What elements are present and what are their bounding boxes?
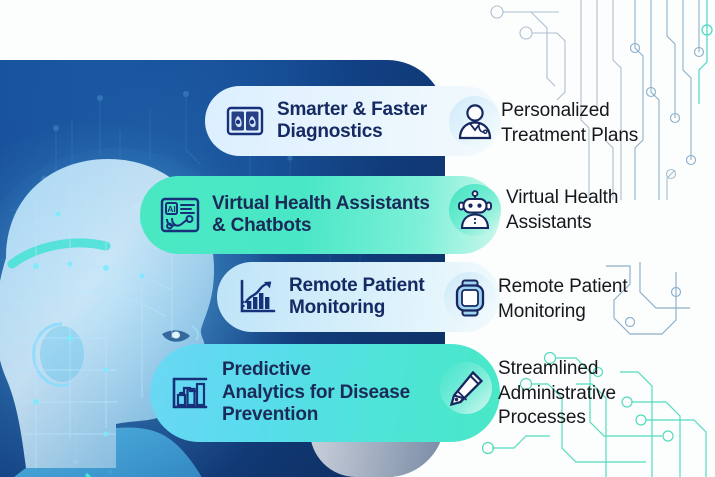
ai-document-stethoscope-icon: AI bbox=[158, 193, 202, 237]
pill-label: Predictive Analytics for Disease Prevent… bbox=[222, 359, 410, 426]
caption-remote-patient-monitoring: Remote Patient Monitoring bbox=[498, 275, 628, 324]
bar-chart-icon bbox=[168, 371, 212, 415]
robot-icon bbox=[455, 190, 495, 230]
xray-scan-icon bbox=[223, 99, 267, 143]
infographic-canvas: Smarter & Faster Diagnostics AI Virtual … bbox=[0, 0, 715, 477]
growth-chart-arrow-icon bbox=[235, 275, 279, 319]
caption-personalized-treatment-plans: Personalized Treatment Plans bbox=[501, 99, 638, 148]
feature-pill-virtual-health-assistants-chatbots[interactable]: AI Virtual Health Assistants & Chatbots bbox=[140, 176, 500, 254]
caption-streamlined-administrative-processes: Streamlined Administrative Processes bbox=[498, 357, 616, 431]
pill-label: Smarter & Faster Diagnostics bbox=[277, 99, 427, 144]
pill-label: Remote Patient Monitoring bbox=[289, 275, 425, 320]
smartwatch-icon bbox=[450, 278, 490, 318]
pencil-icon bbox=[446, 368, 486, 408]
caption-virtual-health-assistants: Virtual Health Assistants bbox=[506, 186, 618, 235]
pill-label: Virtual Health Assistants & Chatbots bbox=[212, 193, 430, 238]
doctor-icon bbox=[455, 102, 495, 142]
svg-text:AI: AI bbox=[167, 204, 176, 214]
